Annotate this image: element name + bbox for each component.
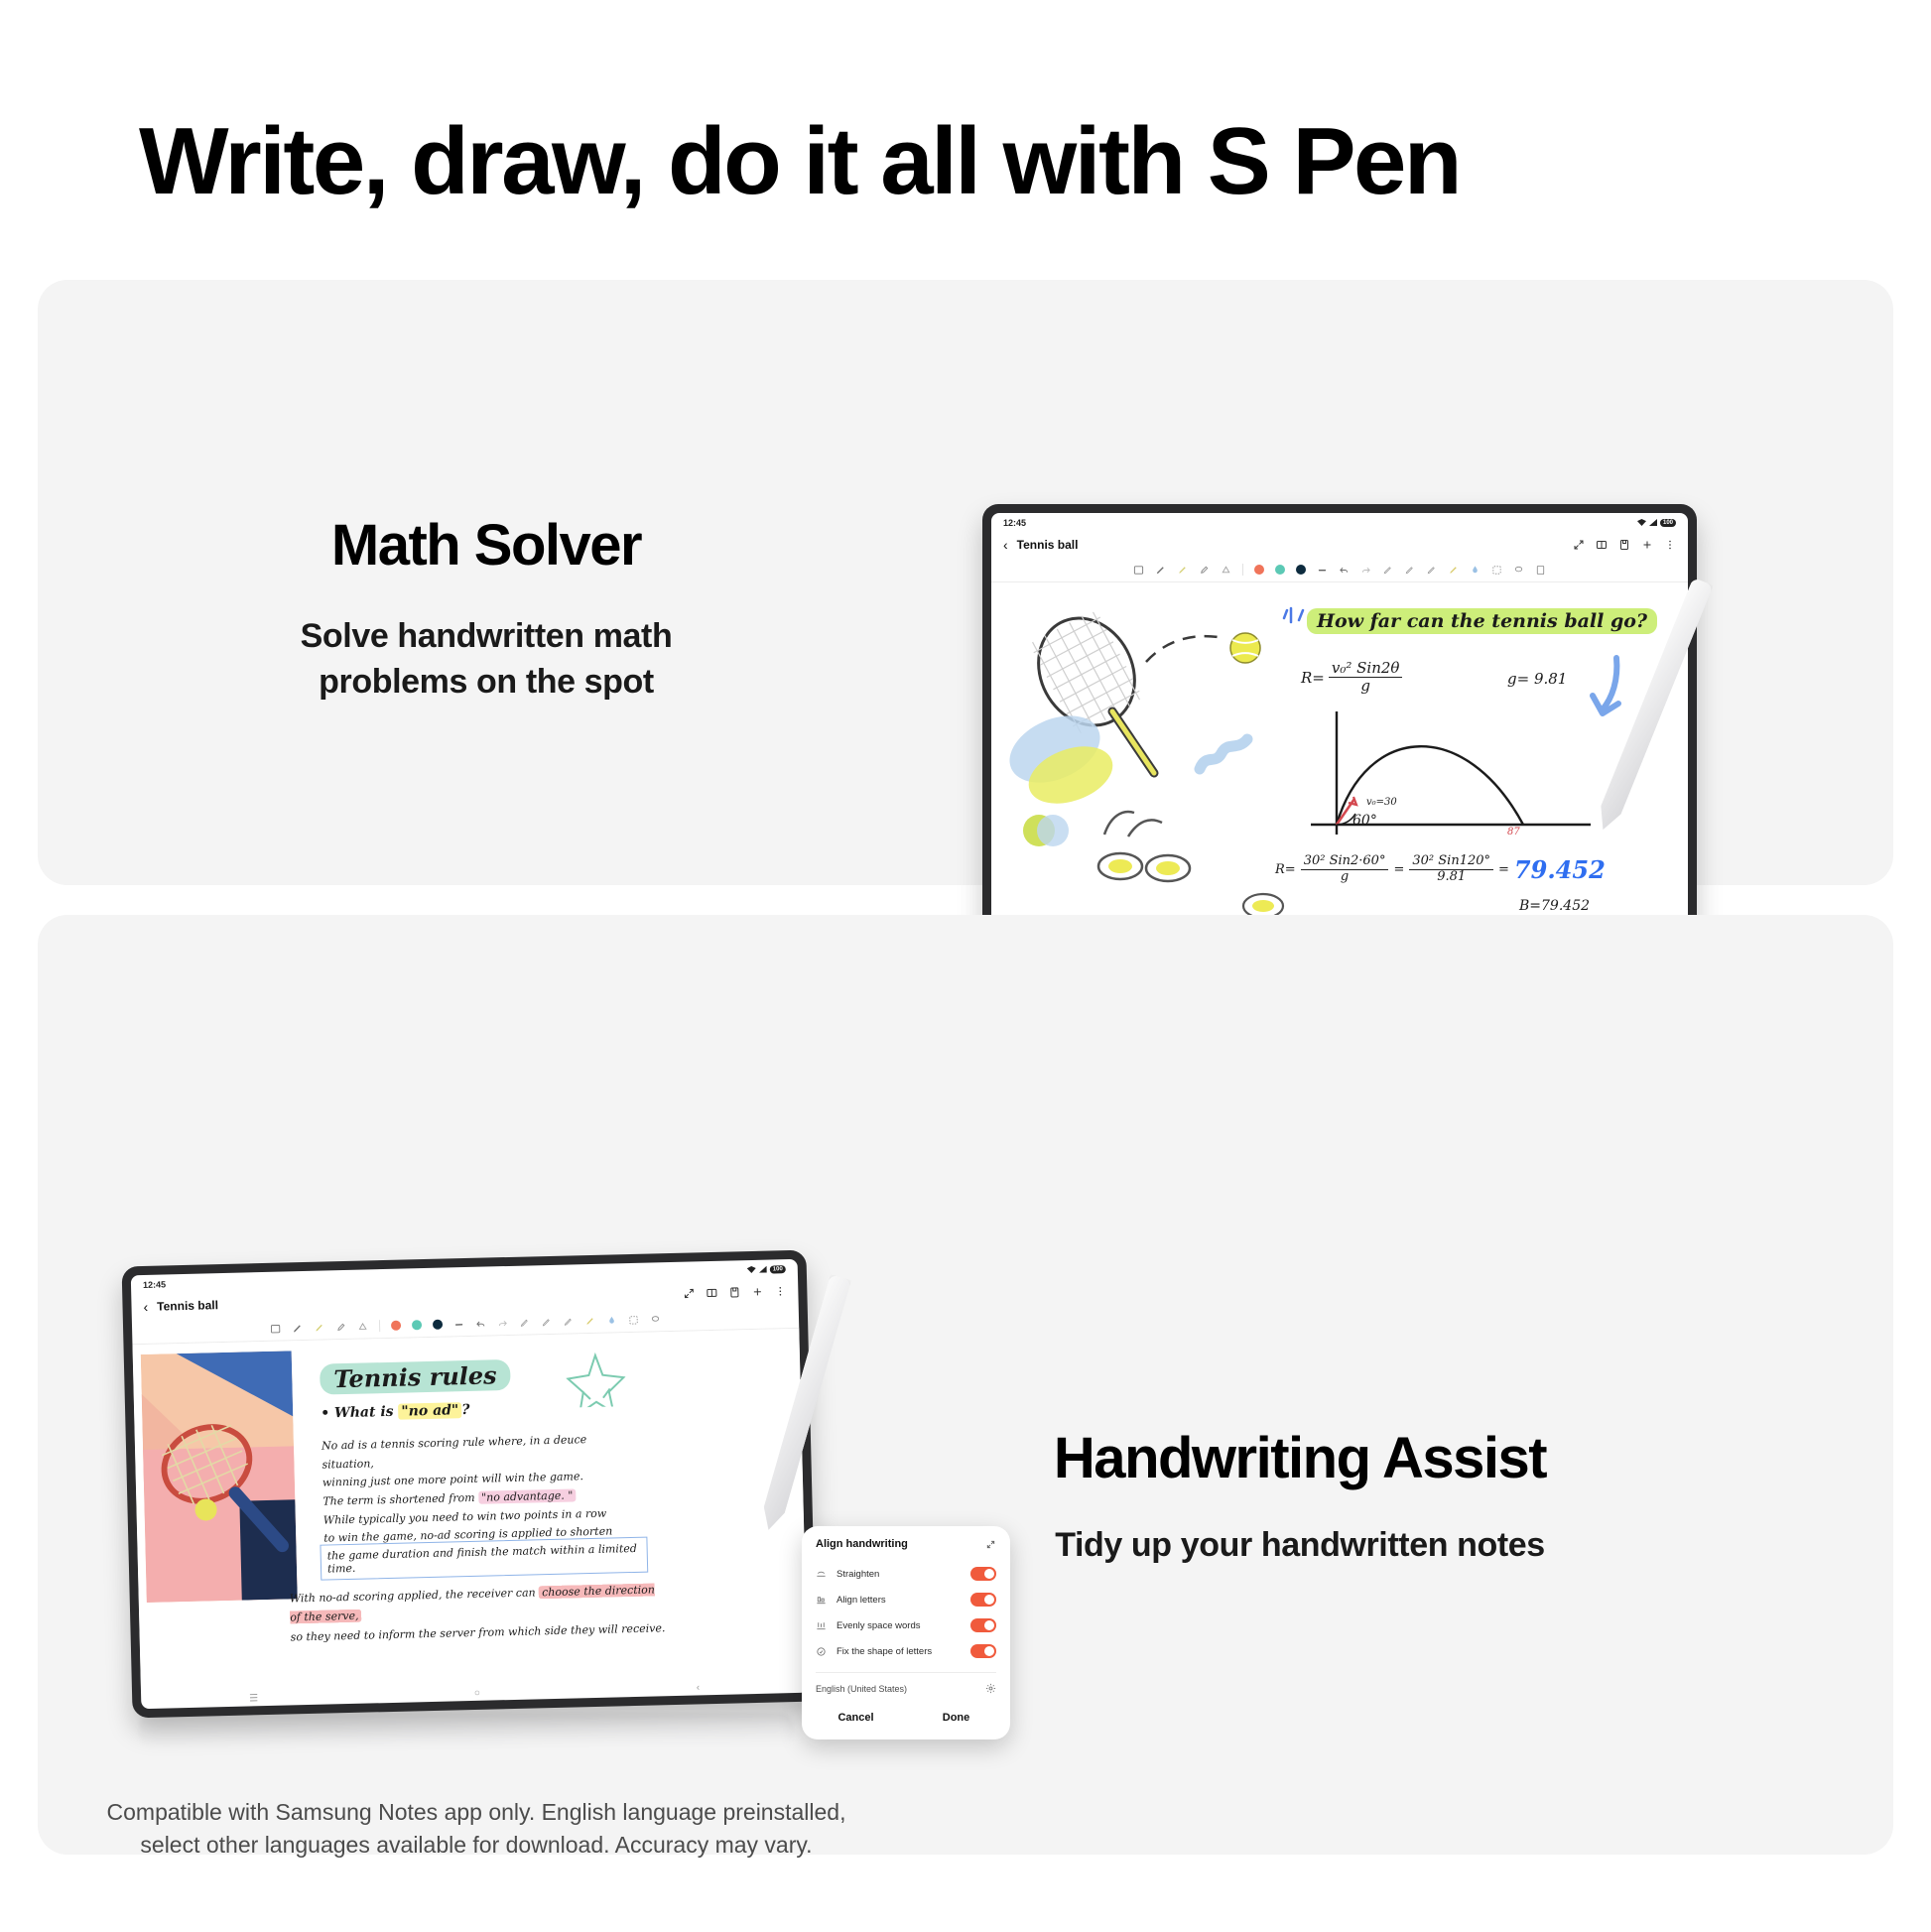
note-heading-text: How far can the tennis ball go? <box>1307 608 1657 634</box>
save-icon[interactable] <box>1618 539 1630 551</box>
solution-row: R= 30² Sin2·60° g = 30² Sin120° 9.81 = 7… <box>1275 854 1606 885</box>
status-time-2: 12:45 <box>143 1279 166 1290</box>
color-swatch-coral[interactable] <box>1254 565 1264 575</box>
redo-icon[interactable] <box>1360 565 1371 576</box>
note-heading-text-2: Tennis rules <box>320 1359 511 1395</box>
brush-icon[interactable] <box>1470 565 1480 576</box>
fix-shape-icon <box>816 1646 827 1657</box>
redo-icon-2[interactable] <box>497 1317 508 1328</box>
battery-icon: 100 <box>1660 519 1676 527</box>
brush-icon-2[interactable] <box>606 1315 617 1326</box>
wifi-icon <box>1637 519 1646 526</box>
solution-denominator-1: g <box>1301 870 1389 885</box>
closing-line-1-text: With no-ad scoring applied, the receiver… <box>290 1586 536 1605</box>
save-icon-2[interactable] <box>728 1286 740 1298</box>
gear-icon[interactable] <box>985 1683 996 1694</box>
toggle-space-words[interactable] <box>970 1618 996 1632</box>
tablet-handwriting-assist: 12:45 100 ‹ Tennis ball <box>122 1250 818 1719</box>
popup-label-straighten: Straighten <box>837 1569 961 1580</box>
done-button[interactable]: Done <box>906 1706 1006 1730</box>
color-swatch-navy-2[interactable] <box>433 1320 443 1330</box>
add-icon[interactable] <box>1641 539 1653 551</box>
eraser-tool-icon-2[interactable] <box>335 1321 346 1332</box>
highlighter-tool-icon[interactable] <box>1177 565 1188 576</box>
color-swatch-teal-2[interactable] <box>412 1320 422 1330</box>
lasso-icon-2[interactable] <box>650 1314 661 1325</box>
popup-title: Align handwriting <box>816 1538 908 1550</box>
expand-icon[interactable] <box>1573 539 1585 551</box>
math-solver-title: Math Solver <box>149 516 824 577</box>
popup-header: Align handwriting <box>802 1538 1010 1561</box>
tablet-reflection-2 <box>139 1713 794 1748</box>
solution-numerator-2: 30² Sin120° <box>1409 854 1493 870</box>
text-tool-icon[interactable] <box>1133 565 1144 576</box>
formula-lhs: R= <box>1301 669 1325 687</box>
tablet-screen-2: 12:45 100 ‹ Tennis ball <box>131 1259 808 1709</box>
more-options-icon-2[interactable] <box>774 1285 786 1297</box>
solution-numerator-1: 30² Sin2·60° <box>1301 854 1389 870</box>
popup-actions: Cancel Done <box>802 1700 1010 1732</box>
bullet-tail: ? <box>461 1402 470 1418</box>
shape-tool-icon-2[interactable] <box>357 1321 368 1332</box>
page-title: Write, draw, do it all with S Pen <box>139 107 1460 216</box>
pen-b-icon-2[interactable] <box>541 1316 552 1327</box>
note-closing: With no-ad scoring applied, the receiver… <box>290 1580 668 1646</box>
note-heading-2: Tennis rules <box>320 1359 511 1395</box>
formula-range: R= v₀² Sin2θ g <box>1301 660 1402 696</box>
expand-icon-2[interactable] <box>683 1287 695 1299</box>
marker-icon[interactable] <box>1448 565 1459 576</box>
straighten-icon <box>816 1569 827 1580</box>
highlighter-tool-icon-2[interactable] <box>314 1322 324 1333</box>
note-body: No ad is a tennis scoring rule where, in… <box>322 1430 632 1549</box>
back-icon-2[interactable]: ‹ <box>697 1682 701 1693</box>
handwriting-assist-disclaimer: Compatible with Samsung Notes app only. … <box>60 1796 893 1863</box>
toggle-fix-shape[interactable] <box>970 1644 996 1658</box>
note-bullet-line: • What is "no ad"? <box>321 1402 470 1422</box>
toolbar-divider <box>1242 564 1243 576</box>
angle-label: 60° <box>1352 813 1377 829</box>
space-words-icon <box>816 1620 827 1631</box>
recents-icon-2[interactable]: ☰ <box>249 1693 258 1704</box>
pen-a-icon-2[interactable] <box>519 1317 530 1328</box>
collapse-icon[interactable] <box>985 1539 996 1550</box>
lasso-icon[interactable] <box>1513 565 1524 576</box>
popup-label-fix-shape: Fix the shape of letters <box>837 1646 961 1657</box>
status-time: 12:45 <box>1003 518 1026 528</box>
popup-row-align-letters[interactable]: Align letters <box>802 1587 1010 1612</box>
popup-row-fix-shape[interactable]: Fix the shape of letters <box>802 1638 1010 1664</box>
signal-icon-2 <box>759 1266 767 1273</box>
velocity-label: v₀=30 <box>1366 797 1397 808</box>
align-letters-icon <box>816 1595 827 1606</box>
signal-icon <box>1649 519 1657 526</box>
toggle-align-letters[interactable] <box>970 1593 996 1607</box>
note-title: Tennis ball <box>1017 538 1079 552</box>
note-icon[interactable] <box>1535 565 1546 576</box>
add-icon-2[interactable] <box>751 1286 763 1298</box>
toolbar-divider-2 <box>379 1320 380 1332</box>
split-view-icon-2[interactable] <box>706 1287 717 1299</box>
marketing-page: Write, draw, do it all with S Pen Math S… <box>0 0 1931 1932</box>
pen-a-icon[interactable] <box>1382 565 1393 576</box>
undo-icon[interactable] <box>1339 565 1350 576</box>
projectile-plot <box>1307 708 1605 840</box>
solution-denominator-2: 9.81 <box>1409 870 1493 885</box>
note-header-actions-2 <box>683 1285 786 1300</box>
selected-line-text: the game duration and finish the match w… <box>327 1542 637 1576</box>
popup-label-space-words: Evenly space words <box>837 1620 961 1631</box>
popup-language-label: English (United States) <box>816 1684 907 1694</box>
split-view-icon[interactable] <box>1596 539 1608 551</box>
chevron-left-icon-2[interactable]: ‹ <box>143 1300 148 1314</box>
note-canvas-2[interactable]: Tennis rules • What is "no ad"? No ad is… <box>132 1329 807 1692</box>
cancel-button[interactable]: Cancel <box>806 1706 906 1730</box>
bullet-prefix: • What is <box>321 1404 394 1422</box>
select-icon-2[interactable] <box>628 1314 639 1325</box>
popup-row-space-words[interactable]: Evenly space words <box>802 1612 1010 1638</box>
tablet-math-solver: 12:45 100 ‹ Tennis ball <box>982 504 1697 975</box>
color-swatch-navy[interactable] <box>1296 565 1306 575</box>
gravity-label: g= 9.81 <box>1507 670 1567 688</box>
body-line-3-text: The term is shortened from <box>322 1491 475 1508</box>
pen-tool-icon-2[interactable] <box>292 1323 303 1334</box>
status-indicators: 100 <box>1637 519 1676 527</box>
note-canvas[interactable]: How far can the tennis ball go? R= v₀² S… <box>991 582 1688 947</box>
popup-label-align-letters: Align letters <box>837 1595 961 1606</box>
home-icon-2[interactable]: ○ <box>474 1687 480 1698</box>
note-heading: How far can the tennis ball go? <box>1307 608 1657 634</box>
star-doodle <box>566 1351 626 1407</box>
handwriting-assist-title: Handwriting Assist <box>873 1429 1727 1489</box>
popup-row-straighten[interactable]: Straighten <box>802 1561 1010 1587</box>
color-swatch-teal[interactable] <box>1275 565 1285 575</box>
bullet-highlight: "no ad" <box>398 1402 461 1420</box>
note-header: ‹ Tennis ball <box>991 532 1688 558</box>
thickness-icon[interactable] <box>1317 565 1328 576</box>
pen-c-icon[interactable] <box>1426 565 1437 576</box>
formula-numerator: v₀² Sin2θ <box>1329 660 1403 678</box>
align-handwriting-popup: Align handwriting Straighten Align lette… <box>802 1526 1010 1739</box>
equals-1: = <box>1393 862 1404 877</box>
thickness-icon-2[interactable] <box>453 1319 464 1330</box>
eraser-tool-icon[interactable] <box>1199 565 1210 576</box>
squiggle-doodle <box>1194 729 1255 787</box>
selected-handwriting-line[interactable]: the game duration and finish the match w… <box>320 1537 648 1581</box>
status-indicators-2: 100 <box>747 1265 786 1274</box>
status-bar: 12:45 100 <box>991 513 1688 532</box>
color-swatch-coral-2[interactable] <box>391 1321 401 1331</box>
range-label: 87 <box>1507 827 1520 837</box>
text-tool-icon-2[interactable] <box>270 1323 281 1334</box>
drawing-toolbar <box>991 558 1688 582</box>
undo-icon-2[interactable] <box>475 1318 486 1329</box>
select-icon[interactable] <box>1491 565 1502 576</box>
more-options-icon[interactable] <box>1664 539 1676 551</box>
tablet-screen: 12:45 100 ‹ Tennis ball <box>991 513 1688 966</box>
equals-2: = <box>1498 862 1509 877</box>
math-solver-text-block: Math Solver Solve handwritten math probl… <box>149 516 824 706</box>
pen-tool-icon[interactable] <box>1155 565 1166 576</box>
toggle-straighten[interactable] <box>970 1567 996 1581</box>
note-header-actions <box>1573 539 1676 551</box>
shape-tool-icon[interactable] <box>1221 565 1231 576</box>
solution-answer: 79.452 <box>1514 855 1606 884</box>
pink-highlight-phrase: "no advantage. " <box>478 1488 577 1503</box>
tennis-ball-icon <box>1225 628 1265 668</box>
chevron-left-icon[interactable]: ‹ <box>1003 538 1008 552</box>
wifi-icon-2 <box>747 1266 756 1273</box>
math-solver-subtitle: Solve handwritten math problems on the s… <box>149 614 824 706</box>
battery-icon-2: 100 <box>770 1265 786 1273</box>
popup-language-row[interactable]: English (United States) <box>802 1673 1010 1700</box>
marker-icon-2[interactable] <box>584 1315 595 1326</box>
formula-denominator: g <box>1329 678 1403 695</box>
note-title-2: Tennis ball <box>157 1298 218 1314</box>
tennis-collage-image <box>141 1351 298 1603</box>
pen-c-icon-2[interactable] <box>563 1316 574 1327</box>
pen-b-icon[interactable] <box>1404 565 1415 576</box>
solution-lhs: R= <box>1275 862 1296 877</box>
